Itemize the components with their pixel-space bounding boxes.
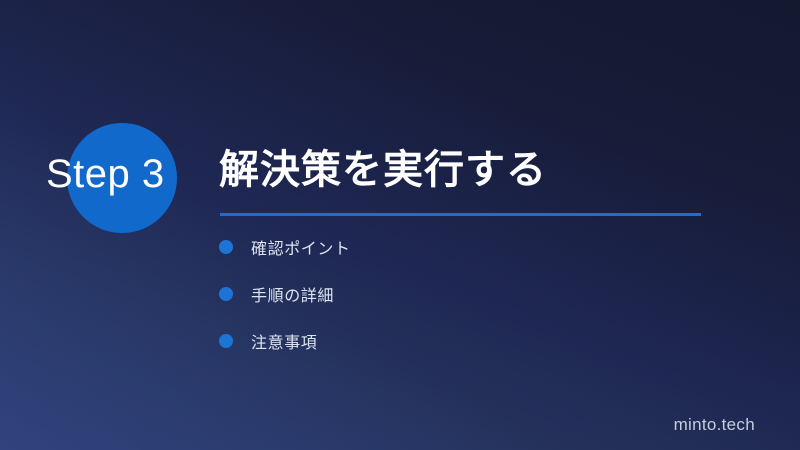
list-item: 確認ポイント — [219, 239, 351, 255]
bullet-label: 確認ポイント — [251, 235, 351, 259]
bullet-label: 注意事項 — [251, 329, 317, 353]
bullet-dot-icon — [219, 287, 233, 301]
bullet-dot-icon — [219, 240, 233, 254]
step-badge-label: Step 3 — [46, 152, 206, 196]
bullet-label: 手順の詳細 — [251, 282, 334, 306]
bullet-list: 確認ポイント 手順の詳細 注意事項 — [219, 239, 351, 380]
bullet-dot-icon — [219, 334, 233, 348]
footer-brand: minto.tech — [674, 415, 755, 435]
title-divider — [220, 213, 701, 216]
slide-content: Step 3 解決策を実行する 確認ポイント 手順の詳細 注意事項 minto.… — [0, 0, 800, 450]
list-item: 注意事項 — [219, 333, 351, 349]
presentation-slide: Step 3 解決策を実行する 確認ポイント 手順の詳細 注意事項 minto.… — [0, 0, 800, 450]
slide-title: 解決策を実行する — [219, 145, 547, 195]
list-item: 手順の詳細 — [219, 286, 351, 302]
